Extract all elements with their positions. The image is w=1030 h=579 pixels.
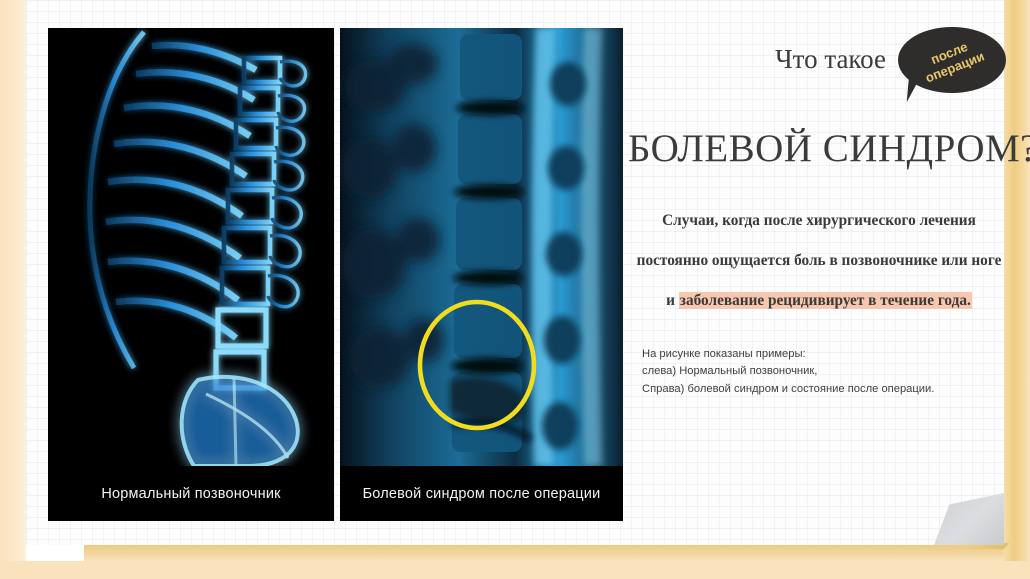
page-title: БОЛЕВОЙ СИНДРОМ? <box>628 126 1008 171</box>
body-line-3-prefix: и <box>666 292 679 309</box>
figure-legend: На рисунке показаны примеры: слева) Норм… <box>642 346 982 398</box>
legend-line-3: Справа) болевой синдром и состояние посл… <box>642 381 982 398</box>
kicker-text: Что такое <box>636 44 886 75</box>
speech-bubble: после операции <box>898 27 1006 105</box>
image-pain-syndrome-mri[interactable]: Болевой синдром после операции <box>340 28 623 521</box>
image-left-caption: Нормальный позвоночник <box>48 466 334 521</box>
right-accent-band <box>1004 0 1030 579</box>
body-line-1: Случаи, когда после хирургического лечен… <box>634 212 1004 230</box>
image-normal-spine[interactable]: Нормальный позвоночник <box>48 28 334 521</box>
left-accent-band <box>0 0 26 579</box>
body-line-3-highlight: заболевание рецидивирует в течение года. <box>679 292 972 309</box>
image-right-caption: Болевой синдром после операции <box>340 466 623 521</box>
xray-scene <box>48 28 334 466</box>
legend-line-2: слева) Нормальный позвоночник, <box>642 363 982 380</box>
xray-spine-illustration <box>48 28 334 466</box>
legend-line-1: На рисунке показаны примеры: <box>642 346 982 363</box>
body-line-3: и заболевание рецидивирует в течение год… <box>634 292 1004 310</box>
body-paragraph: Случаи, когда после хирургического лечен… <box>634 212 1004 310</box>
slide-canvas: Нормальный позвоночник <box>0 0 1030 579</box>
paper-bottom-shadow <box>84 545 1004 561</box>
mri-scene <box>340 28 623 466</box>
bottom-accent-band <box>0 561 1030 579</box>
body-line-2: постоянно ощущается боль в позвоночнике … <box>634 252 1004 270</box>
mri-lumbar-illustration <box>340 28 623 466</box>
